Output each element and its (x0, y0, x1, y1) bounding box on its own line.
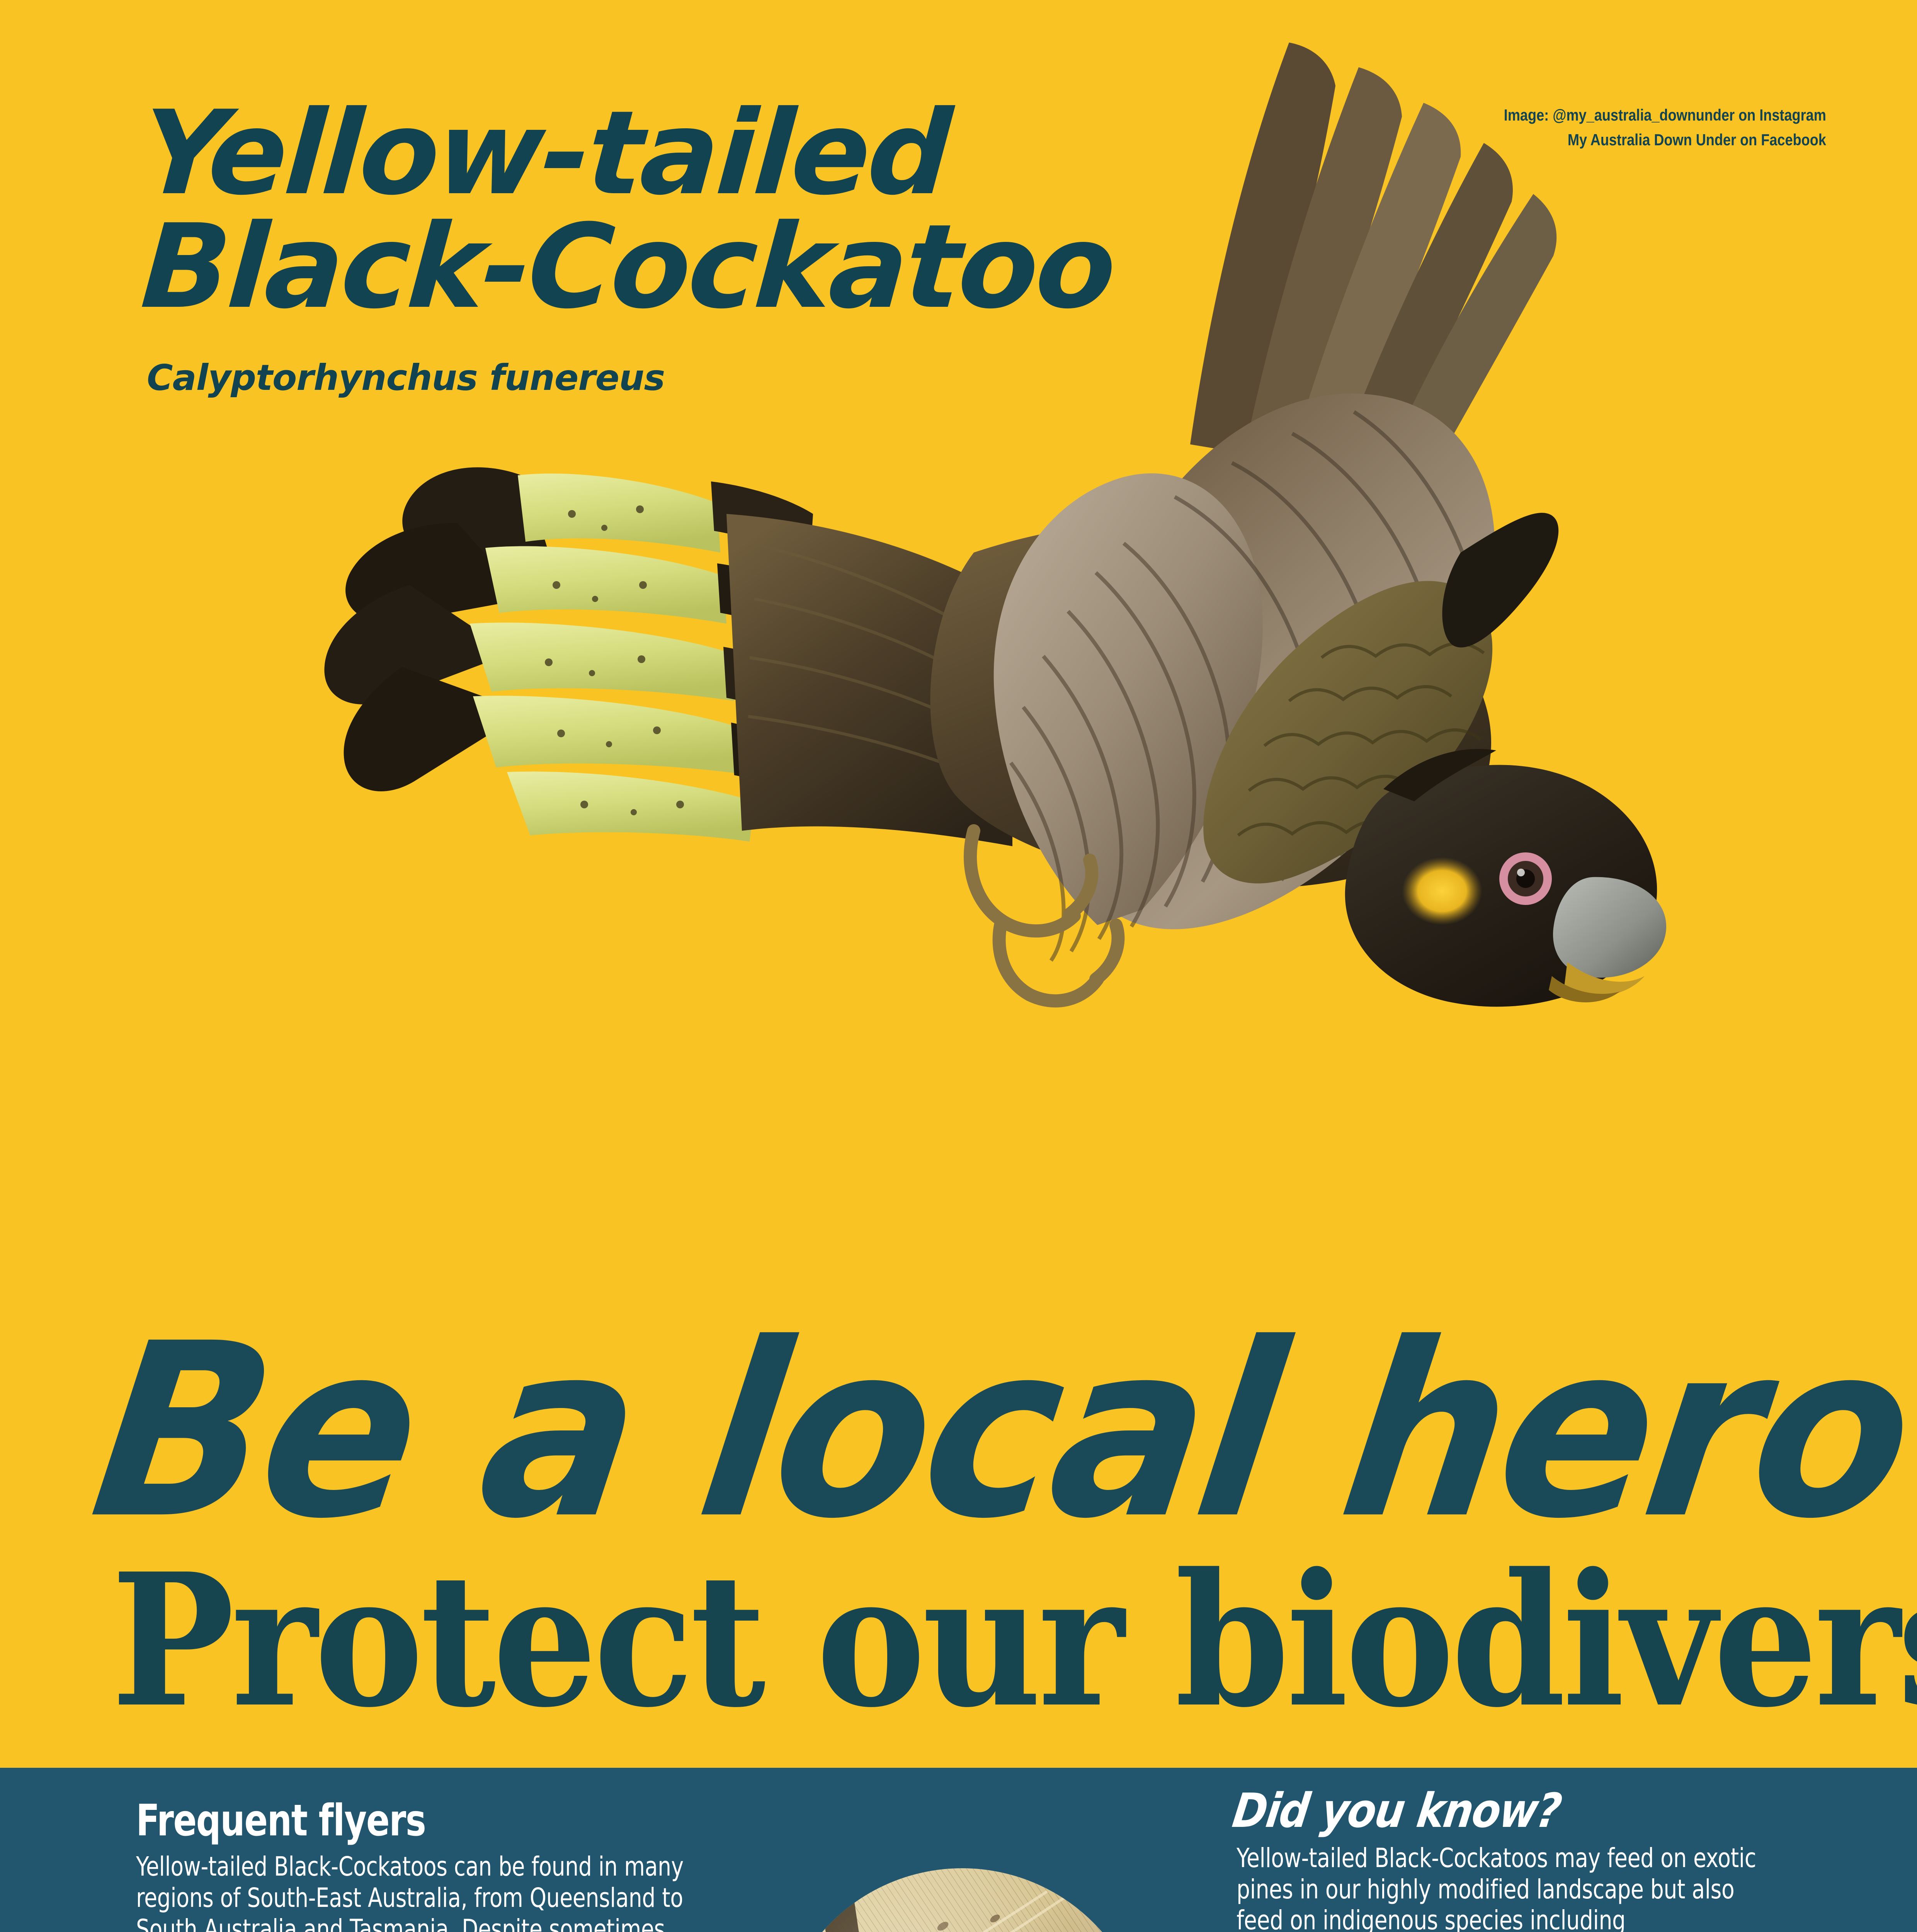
title-line-1: Yellow-tailed (138, 97, 1151, 210)
info-column-left: Frequent flyers Yellow-tailed Black-Cock… (136, 1799, 685, 1932)
image-credit-line-2: My Australia Down Under on Facebook (1504, 128, 1826, 152)
poster-root: Yellow-tailed Black-Cockatoo Calyptorhyn… (0, 0, 1917, 1932)
section-heading-frequent-flyers: Frequent flyers (136, 1799, 575, 1843)
feather-photo (777, 1868, 1148, 1932)
section-heading-did-you-know: Did you know? (1230, 1787, 1737, 1834)
hero-headline-serif: Protect our biodiversity (111, 1549, 1917, 1732)
title-line-2: Black-Cockatoo (138, 210, 1151, 324)
scientific-name: Calyptorhynchus funereus (147, 357, 1147, 398)
feather-figure: Image: close up of feather (769, 1868, 1155, 1932)
page-title: Yellow-tailed Black-Cockatoo Calyptorhyn… (142, 97, 1147, 398)
section-body-frequent-flyers: Yellow-tailed Black-Cockatoos can be fou… (136, 1851, 685, 1932)
image-credit-line-1: Image: @my_australia_downunder on Instag… (1504, 103, 1826, 128)
info-column-right: Did you know? Yellow-tailed Black-Cockat… (1237, 1787, 1805, 1932)
image-credit: Image: @my_australia_downunder on Instag… (1504, 103, 1826, 152)
section-body-did-you-know: Yellow-tailed Black-Cockatoos may feed o… (1237, 1843, 1785, 1932)
hero-headline-script: Be a local hero (82, 1312, 1917, 1552)
